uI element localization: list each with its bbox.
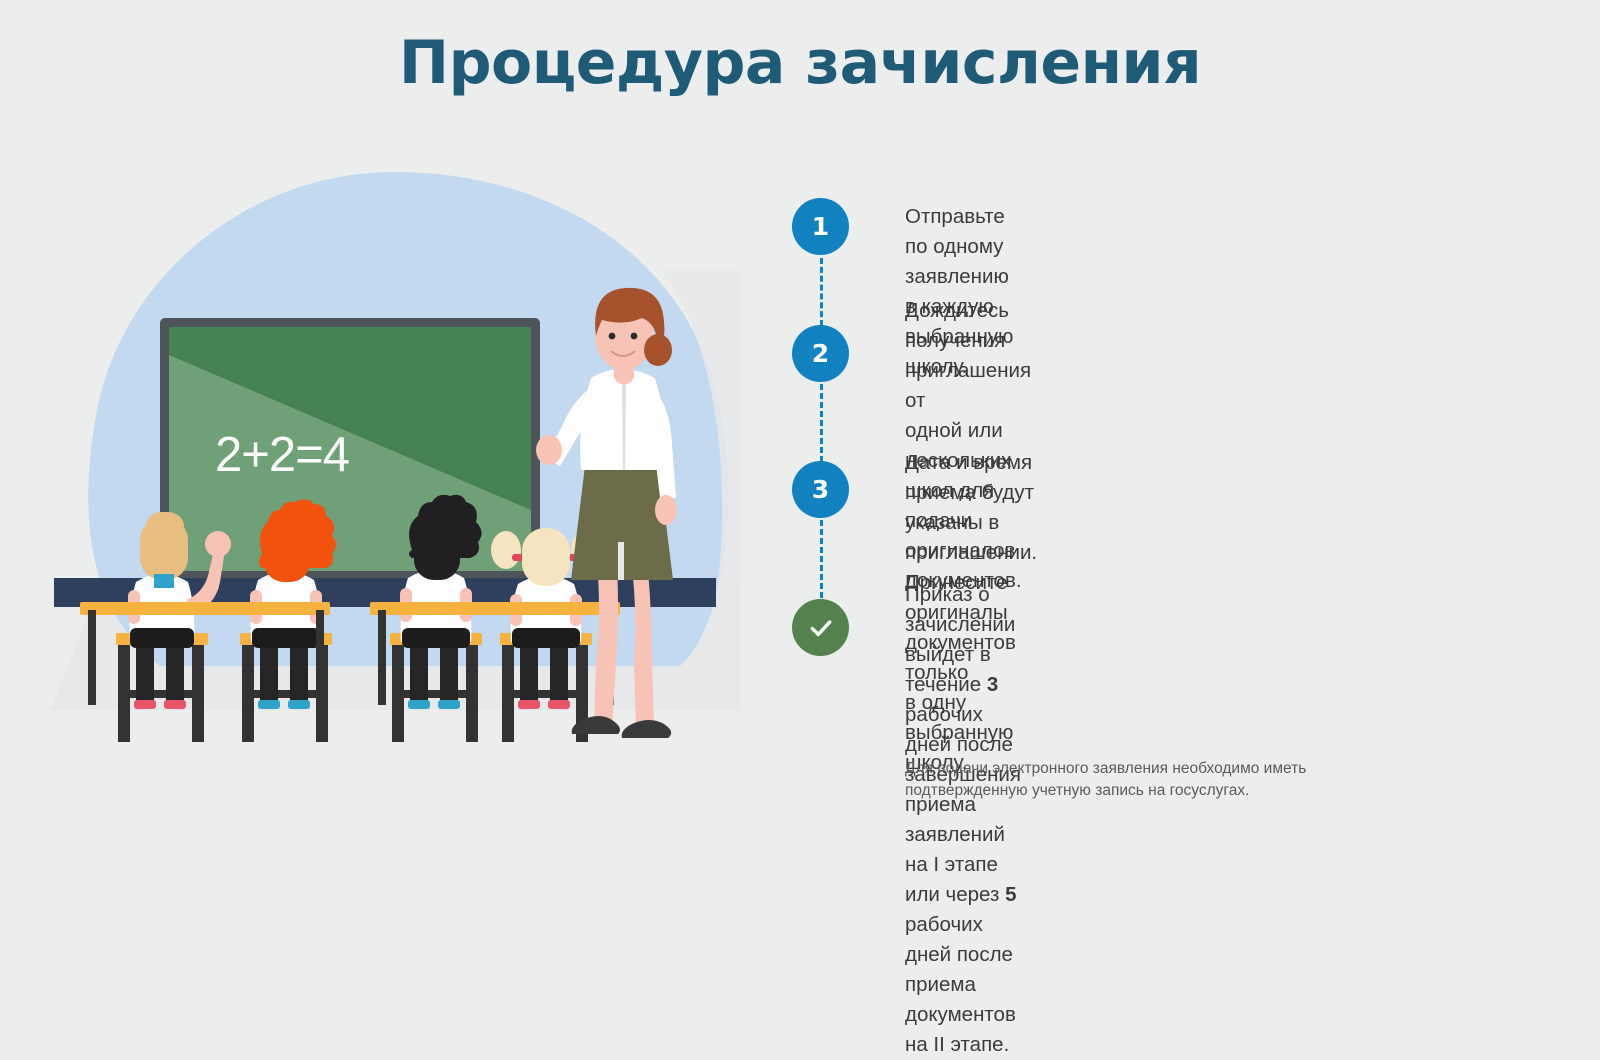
step-badge-2: 2: [792, 325, 849, 382]
step-connector-3-4: [820, 520, 823, 598]
page-title: Процедура зачисления: [0, 28, 1600, 98]
steps-list: 1 Отправьте по одному заявлению в каждую…: [780, 180, 1570, 840]
svg-text:2+2=4: 2+2=4: [215, 428, 349, 482]
footnote-text: Для подачи электронного заявления необхо…: [905, 758, 1505, 802]
step-connector-2-3: [820, 384, 823, 462]
step-connector-1-2: [820, 258, 823, 326]
step-badge-3: 3: [792, 461, 849, 518]
classroom-illustration: 2+2=4: [40, 150, 780, 770]
check-icon: [792, 599, 849, 656]
step-badge-1: 1: [792, 198, 849, 255]
step-text-4: Приказ о зачислении выйдет в течение 3 р…: [905, 580, 1021, 1060]
